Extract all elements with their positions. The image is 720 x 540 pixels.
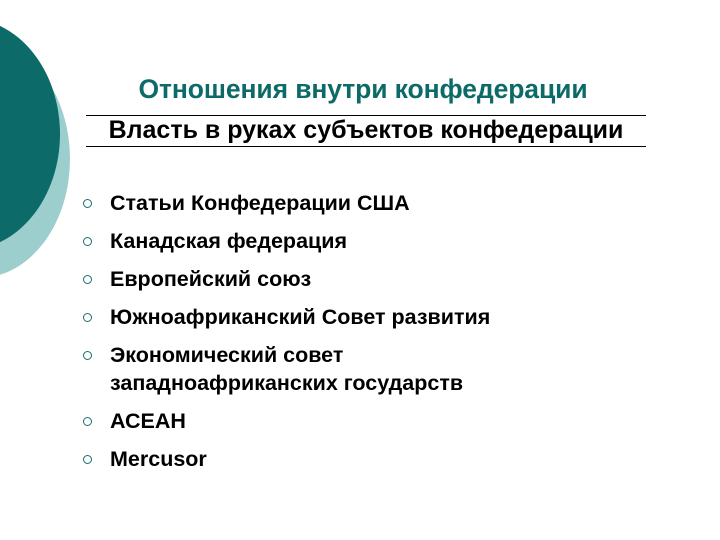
list-item-label-line-2: западноафриканских государств [110, 370, 682, 398]
list-item: Статьи Конфедерации США [82, 190, 682, 218]
list-item: АСЕАН [82, 408, 682, 436]
list-item-label-line-1: Экономический совет [110, 342, 682, 370]
list-item-label: Экономический совет западноафриканских г… [110, 342, 682, 397]
list-item: Mercusor [82, 446, 682, 474]
hollow-circle-bullet-icon [83, 275, 92, 284]
hollow-circle-bullet-icon [83, 313, 92, 322]
slide-subtitle: Власть в руках субъектов конфедерации [86, 115, 646, 147]
hollow-circle-bullet-icon [83, 351, 92, 360]
list-item-label: Mercusor [110, 446, 682, 474]
list-item-label: Канадская федерация [110, 228, 682, 256]
slide-title: Отношения внутри конфедерации [80, 76, 646, 104]
hollow-circle-bullet-icon [83, 417, 92, 426]
bullet-list: Статьи Конфедерации США Канадская федера… [82, 190, 682, 484]
list-item-label: Статьи Конфедерации США [110, 190, 682, 218]
list-item-label: Европейский союз [110, 266, 682, 294]
list-item: Экономический совет западноафриканских г… [82, 342, 682, 397]
presentation-slide: Отношения внутри конфедерации Власть в р… [0, 0, 720, 540]
list-item: Канадская федерация [82, 228, 682, 256]
list-item: Европейский союз [82, 266, 682, 294]
hollow-circle-bullet-icon [83, 199, 92, 208]
hollow-circle-bullet-icon [83, 455, 92, 464]
list-item-label: Южноафриканский Совет развития [110, 304, 682, 332]
list-item-label: АСЕАН [110, 408, 682, 436]
hollow-circle-bullet-icon [83, 237, 92, 246]
list-item: Южноафриканский Совет развития [82, 304, 682, 332]
